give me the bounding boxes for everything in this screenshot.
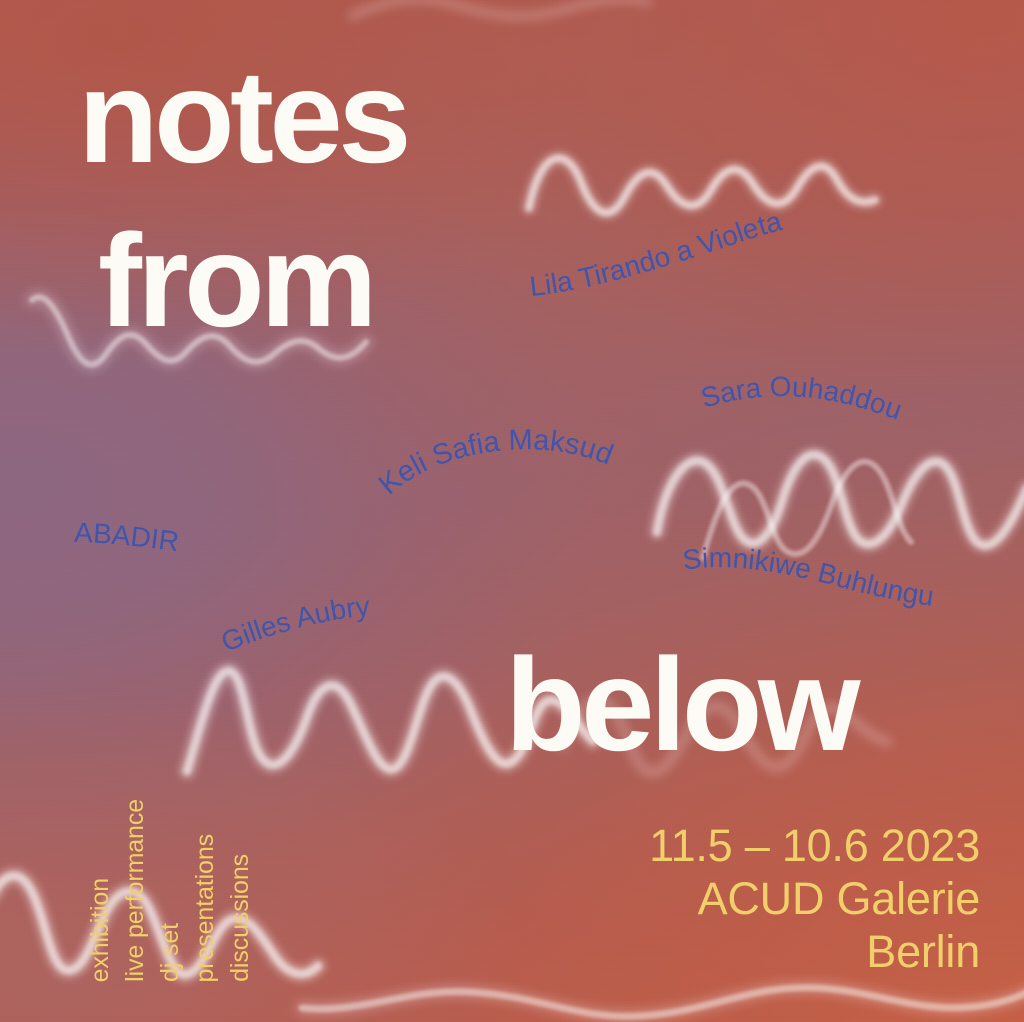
artist-name-abadir[interactable]: ABADIR xyxy=(72,522,202,572)
event-details: 11.5 – 10.6 2023 ACUD Galerie Berlin xyxy=(649,819,980,978)
poster-canvas: Lila Tirando a Violeta Sara Ouhaddou Kel… xyxy=(0,0,1024,1022)
programme-list: exhibition live performance dj set prese… xyxy=(88,732,253,982)
artist-name-label: ABADIR xyxy=(74,517,181,557)
programme-item-exhibition: exhibition xyxy=(88,878,113,982)
artist-name-sara-ouhaddou[interactable]: Sara Ouhaddou xyxy=(700,378,950,458)
headline-word-from: from xyxy=(98,226,373,337)
artist-name-keli-safia-maksud[interactable]: Keli Safia Maksud xyxy=(385,440,655,520)
artist-name-simnikiwe-buhlungu[interactable]: Simnikiwe Buhlungu xyxy=(680,550,970,630)
svg-text:Keli Safia Maksud: Keli Safia Maksud xyxy=(373,424,617,501)
artist-name-label: Sara Ouhaddou xyxy=(697,371,906,426)
artist-name-label: Lila Tirando a Violeta xyxy=(528,205,785,302)
svg-text:Gilles Aubry: Gilles Aubry xyxy=(217,591,371,658)
artist-name-label: Simnikiwe Buhlungu xyxy=(681,542,936,612)
svg-text:Lila Tirando a Violeta: Lila Tirando a Violeta xyxy=(528,205,785,302)
headline-word-below: below xyxy=(505,650,856,761)
artist-name-gilles-aubry[interactable]: Gilles Aubry xyxy=(222,600,422,670)
programme-item-discussions: discussions xyxy=(228,854,253,982)
svg-text:ABADIR: ABADIR xyxy=(74,517,181,557)
headline-word-notes: notes xyxy=(78,62,407,173)
artist-name-lila-tirando-a-violeta[interactable]: Lila Tirando a Violeta xyxy=(525,218,855,308)
programme-item-live-performance: live performance xyxy=(123,799,148,982)
event-dates: 11.5 – 10.6 2023 xyxy=(649,819,980,872)
svg-text:Sara Ouhaddou: Sara Ouhaddou xyxy=(697,371,906,426)
programme-item-presentations: presentations xyxy=(193,834,218,982)
svg-text:Simnikiwe Buhlungu: Simnikiwe Buhlungu xyxy=(681,542,936,612)
event-city: Berlin xyxy=(649,925,980,978)
programme-item-dj-set: dj set xyxy=(158,923,183,982)
event-venue: ACUD Galerie xyxy=(649,872,980,925)
artist-name-label: Keli Safia Maksud xyxy=(373,424,617,501)
artist-name-label: Gilles Aubry xyxy=(217,591,371,658)
